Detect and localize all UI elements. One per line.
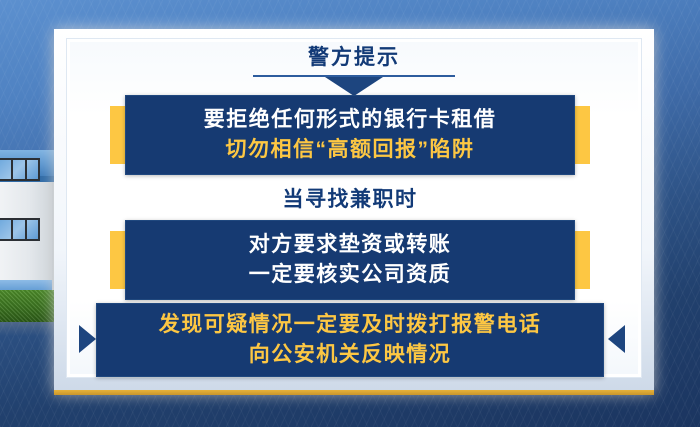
building-window-lower xyxy=(0,218,40,241)
message-line: 切勿相信“高额回报”陷阱 xyxy=(226,135,475,165)
message-line: 要拒绝任何形式的银行卡租借 xyxy=(204,105,497,135)
poster-title-block: 警方提示 xyxy=(70,38,638,96)
message-line: 向公安机关反映情况 xyxy=(249,340,452,370)
chevron-down-icon xyxy=(325,77,383,96)
page-title: 警方提示 xyxy=(70,38,638,73)
card-gold-strip xyxy=(54,390,654,395)
building-window-upper xyxy=(0,158,40,181)
hedge-shrub xyxy=(0,290,62,322)
accent-bar-right-1 xyxy=(573,106,590,164)
middle-note-line: 当寻找兼职时 xyxy=(125,186,575,214)
message-line: 对方要求垫资或转账 xyxy=(249,230,452,260)
poster-stage: 警方提示 要拒绝任何形式的银行卡租借 切勿相信“高额回报”陷阱 当寻找兼职时 对… xyxy=(0,0,700,427)
message-block-3: 发现可疑情况一定要及时拨打报警电话 向公安机关反映情况 xyxy=(96,303,604,377)
hedge-texture xyxy=(0,290,62,322)
message-line: 一定要核实公司资质 xyxy=(249,260,452,290)
message-block-2: 对方要求垫资或转账 一定要核实公司资质 xyxy=(125,220,575,300)
accent-bar-right-2 xyxy=(573,231,590,289)
triangle-left-icon xyxy=(608,325,625,353)
triangle-right-icon xyxy=(79,325,96,353)
message-line: 发现可疑情况一定要及时拨打报警电话 xyxy=(159,310,542,340)
message-block-1: 要拒绝任何形式的银行卡租借 切勿相信“高额回报”陷阱 xyxy=(125,95,575,175)
